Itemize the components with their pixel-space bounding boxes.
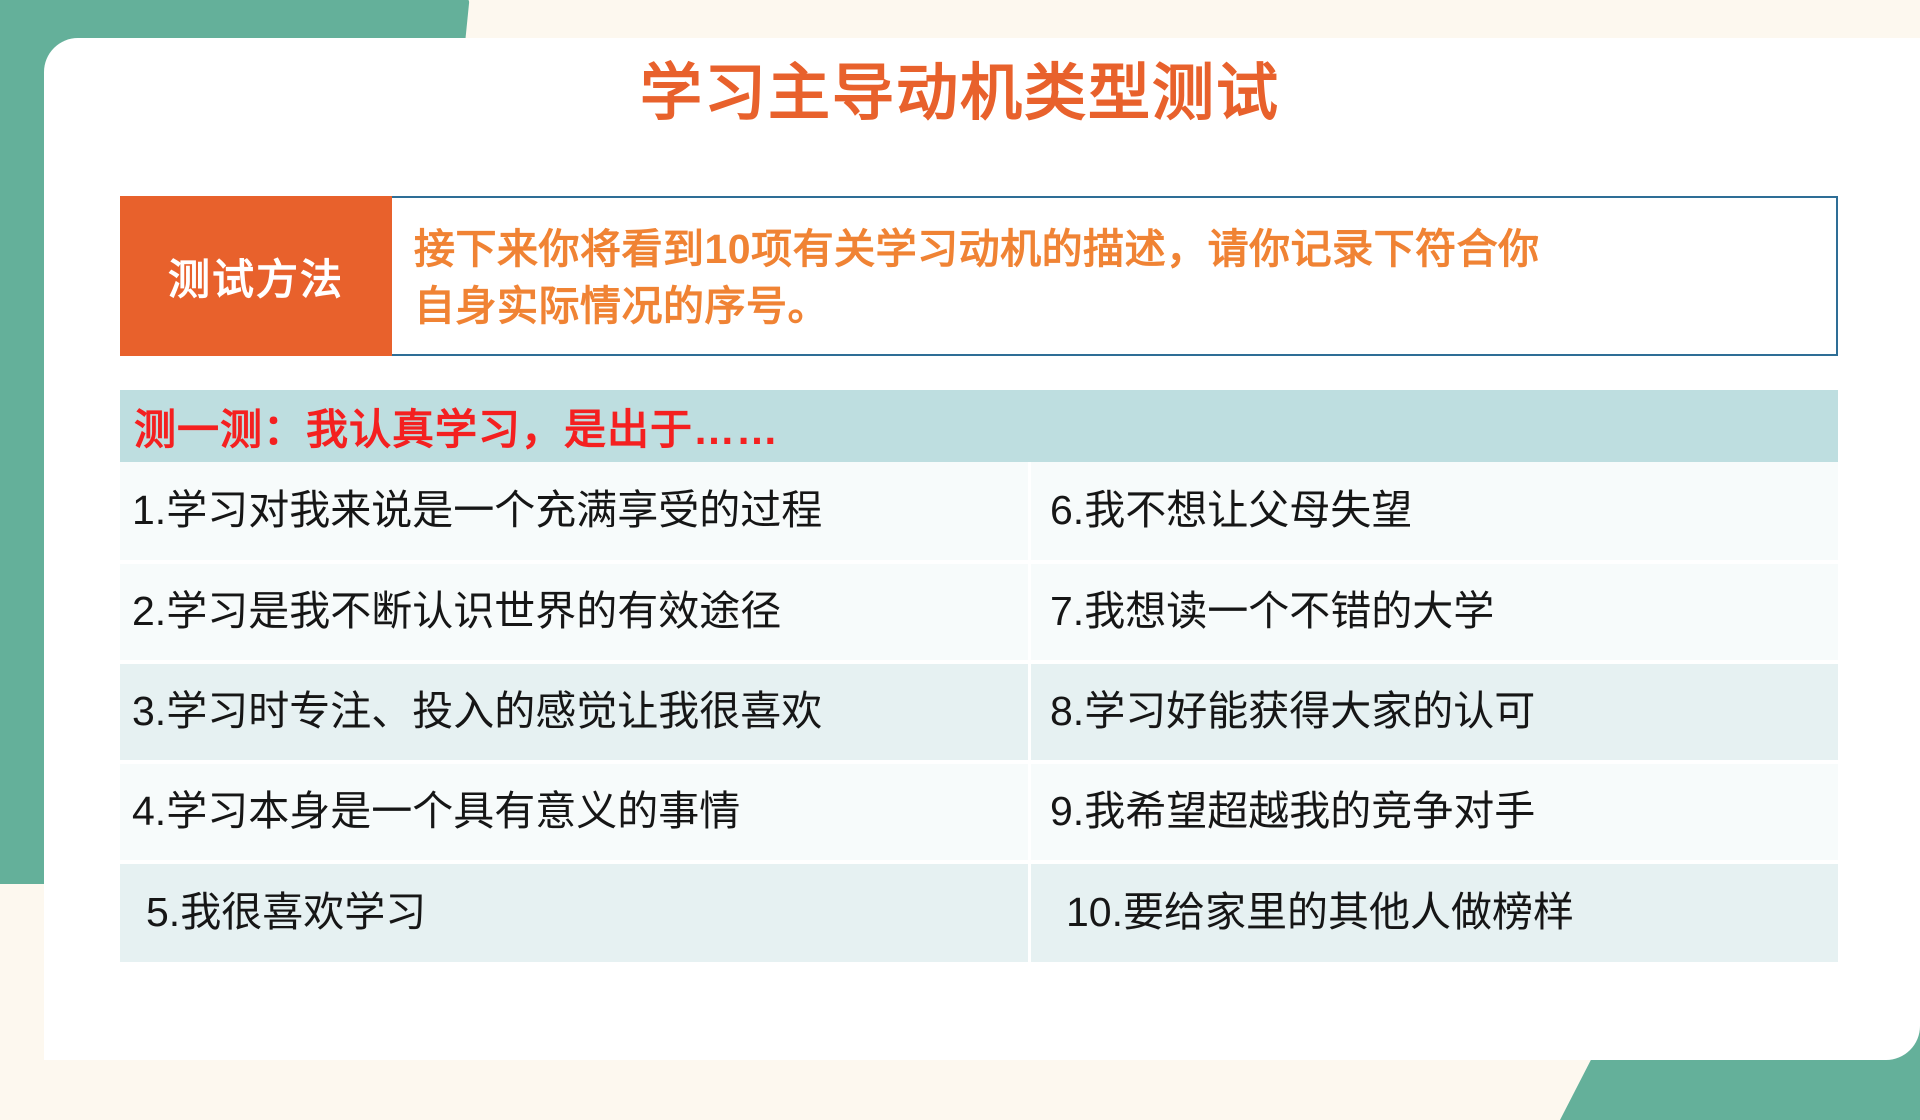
method-block: 测试方法 接下来你将看到10项有关学习动机的描述，请你记录下符合你 自身实际情况… xyxy=(120,196,1838,356)
method-description-line-2: 自身实际情况的序号。 xyxy=(414,278,1812,335)
table-row: 5.我很喜欢学习 10.要给家里的其他人做榜样 xyxy=(120,862,1838,962)
slide-stage: 学习主导动机类型测试 测试方法 接下来你将看到10项有关学习动机的描述，请你记录… xyxy=(0,0,1920,1080)
page-title: 学习主导动机类型测试 xyxy=(0,58,1920,129)
table-row: 1.学习对我来说是一个充满享受的过程 6.我不想让父母失望 xyxy=(120,462,1838,562)
table-row: 4.学习本身是一个具有意义的事情 9.我希望超越我的竞争对手 xyxy=(120,762,1838,862)
prompt-text: 测一测：我认真学习，是出于…… xyxy=(134,396,779,457)
item-cell-8: 8.学习好能获得大家的认可 xyxy=(1028,662,1838,762)
table-row: 3.学习时专注、投入的感觉让我很喜欢 8.学习好能获得大家的认可 xyxy=(120,662,1838,762)
method-description-line-1: 接下来你将看到10项有关学习动机的描述，请你记录下符合你 xyxy=(414,221,1812,278)
item-cell-4: 4.学习本身是一个具有意义的事情 xyxy=(120,762,1028,862)
table-row: 2.学习是我不断认识世界的有效途径 7.我想读一个不错的大学 xyxy=(120,562,1838,662)
item-cell-7: 7.我想读一个不错的大学 xyxy=(1028,562,1838,662)
prompt-bar: 测一测：我认真学习，是出于…… xyxy=(120,390,1838,462)
slide-content: 学习主导动机类型测试 测试方法 接下来你将看到10项有关学习动机的描述，请你记录… xyxy=(0,0,1920,1080)
item-table: 1.学习对我来说是一个充满享受的过程 6.我不想让父母失望 2.学习是我不断认识… xyxy=(120,462,1838,962)
item-cell-5: 5.我很喜欢学习 xyxy=(120,862,1028,962)
item-cell-1: 1.学习对我来说是一个充满享受的过程 xyxy=(120,462,1028,562)
method-tag-label: 测试方法 xyxy=(120,196,392,356)
method-description-box: 接下来你将看到10项有关学习动机的描述，请你记录下符合你 自身实际情况的序号。 xyxy=(392,196,1838,356)
item-cell-9: 9.我希望超越我的竞争对手 xyxy=(1028,762,1838,862)
item-cell-2: 2.学习是我不断认识世界的有效途径 xyxy=(120,562,1028,662)
item-cell-10: 10.要给家里的其他人做榜样 xyxy=(1028,862,1838,962)
item-cell-3: 3.学习时专注、投入的感觉让我很喜欢 xyxy=(120,662,1028,762)
item-cell-6: 6.我不想让父母失望 xyxy=(1028,462,1838,562)
